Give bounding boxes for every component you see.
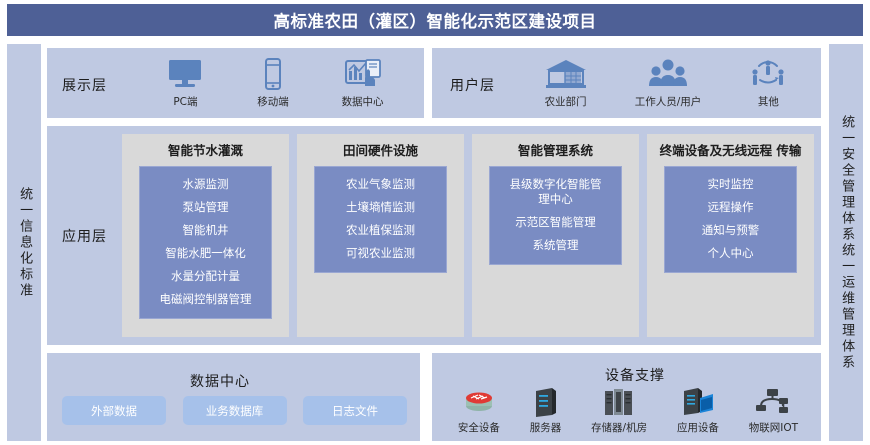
app-panel-smart-irrigation: 智能节水灌溉 水源监测 泵站管理 智能机井 智能水肥一体化 水量分配计量 电磁阀… bbox=[122, 134, 289, 337]
storage-rack-icon bbox=[601, 382, 637, 418]
monitor-icon bbox=[166, 56, 204, 92]
display-item-mobile-caption: 移动端 bbox=[257, 94, 289, 109]
app-item[interactable]: 远程操作 bbox=[706, 196, 756, 219]
app-panel-smart-management: 智能管理系统 县级数字化智能管 理中心 示范区智能管理 系统管理 bbox=[472, 134, 639, 337]
equip-item-application-device[interactable]: 应用设备 bbox=[677, 382, 719, 435]
display-item-mobile[interactable]: 移动端 bbox=[257, 56, 289, 109]
user-layer-label: 用户层 bbox=[450, 75, 495, 95]
app-item[interactable]: 电磁阀控制器管理 bbox=[158, 288, 254, 311]
user-item-agri-dept-caption: 农业部门 bbox=[545, 94, 587, 109]
application-device-icon bbox=[679, 382, 717, 418]
user-item-staff[interactable]: 工作人员/用户 bbox=[635, 56, 702, 109]
page-title: 高标准农田（灌区）智能化示范区建设项目 bbox=[274, 8, 597, 32]
left-rail-info-standard: 统一信息化标准 bbox=[7, 44, 41, 441]
app-panel-title: 智能管理系统 bbox=[514, 143, 597, 160]
equip-item-application-device-caption: 应用设备 bbox=[677, 420, 719, 435]
right-rail-management: 统一安全管理体系 统一运维管理体系 bbox=[829, 44, 863, 441]
left-rail-label: 统一信息化标准 bbox=[17, 187, 31, 299]
equip-item-storage-caption: 存储器/机房 bbox=[591, 420, 647, 435]
display-layer-label: 展示层 bbox=[62, 75, 107, 95]
architecture-diagram: 高标准农田（灌区）智能化示范区建设项目 统一信息化标准 统一安全管理体系 统一运… bbox=[0, 0, 870, 445]
app-panel-items: 农业气象监测 土壤墒情监测 农业植保监测 可视农业监测 bbox=[314, 166, 448, 273]
app-item[interactable]: 可视农业监测 bbox=[344, 242, 417, 265]
app-item[interactable]: 农业植保监测 bbox=[344, 219, 417, 242]
app-item[interactable]: 泵站管理 bbox=[181, 196, 231, 219]
app-item[interactable]: 农业气象监测 bbox=[344, 173, 417, 196]
app-panel-items: 实时监控 远程操作 通知与预警 个人中心 bbox=[664, 166, 798, 273]
app-item[interactable]: 县级数字化智能管 理中心 bbox=[508, 173, 604, 211]
app-panel-items: 水源监测 泵站管理 智能机井 智能水肥一体化 水量分配计量 电磁阀控制器管理 bbox=[139, 166, 273, 319]
right-rail-security-label: 统一安全管理体系 bbox=[839, 115, 853, 243]
app-item[interactable]: 智能机井 bbox=[181, 219, 231, 242]
display-item-datacenter[interactable]: 数据中心 bbox=[342, 56, 384, 109]
equip-item-storage[interactable]: 存储器/机房 bbox=[591, 382, 647, 435]
app-panel-terminal-transmission: 终端设备及无线远程 传输 实时监控 远程操作 通知与预警 个人中心 bbox=[647, 134, 814, 337]
display-item-pc[interactable]: PC端 bbox=[166, 56, 204, 109]
user-item-agri-dept[interactable]: 农业部门 bbox=[544, 56, 588, 109]
user-item-other-caption: 其他 bbox=[758, 94, 779, 109]
data-center-title: 数据中心 bbox=[190, 371, 250, 391]
tablet-chart-icon bbox=[344, 56, 382, 92]
page-title-bar: 高标准农田（灌区）智能化示范区建设项目 bbox=[7, 4, 863, 36]
user-layer-icons: 农业部门 工作人员/用户 bbox=[520, 56, 812, 109]
app-item[interactable]: 实时监控 bbox=[706, 173, 756, 196]
equip-item-iot[interactable]: 物联网IOT bbox=[749, 382, 798, 435]
app-item[interactable]: 土壤墒情监测 bbox=[344, 196, 417, 219]
app-item[interactable]: 智能水肥一体化 bbox=[163, 242, 248, 265]
people-group-icon bbox=[646, 56, 690, 92]
app-panel-field-hardware: 田间硬件设施 农业气象监测 土壤墒情监测 农业植保监测 可视农业监测 bbox=[297, 134, 464, 337]
equip-item-security[interactable]: 安全设备 bbox=[458, 382, 500, 435]
equipment-support-icons: 安全设备 服务器 bbox=[443, 382, 813, 435]
app-item[interactable]: 系统管理 bbox=[531, 234, 581, 257]
right-rail-ops-label: 统一运维管理体系 bbox=[839, 243, 853, 371]
equip-item-server[interactable]: 服务器 bbox=[530, 382, 562, 435]
government-building-icon bbox=[544, 56, 588, 92]
user-item-staff-caption: 工作人员/用户 bbox=[635, 94, 702, 109]
iot-network-icon bbox=[753, 382, 793, 418]
user-item-other[interactable]: 其他 bbox=[748, 56, 788, 109]
app-item[interactable]: 水源监测 bbox=[181, 173, 231, 196]
app-panel-title: 智能节水灌溉 bbox=[164, 143, 247, 160]
app-panel-items: 县级数字化智能管 理中心 示范区智能管理 系统管理 bbox=[489, 166, 623, 265]
server-tower-icon bbox=[530, 382, 560, 418]
app-panel-title: 终端设备及无线远程 传输 bbox=[656, 143, 806, 160]
display-item-datacenter-caption: 数据中心 bbox=[342, 94, 384, 109]
app-item[interactable]: 个人中心 bbox=[706, 242, 756, 265]
display-item-pc-caption: PC端 bbox=[173, 94, 197, 109]
app-item[interactable]: 示范区智能管理 bbox=[513, 211, 598, 234]
equip-item-server-caption: 服务器 bbox=[530, 420, 562, 435]
data-center-pills: 外部数据 业务数据库 日志文件 bbox=[62, 396, 407, 425]
application-layer-label: 应用层 bbox=[62, 226, 107, 246]
mobile-phone-icon bbox=[261, 56, 285, 92]
data-pill-external[interactable]: 外部数据 bbox=[62, 396, 166, 425]
equip-item-iot-caption: 物联网IOT bbox=[749, 420, 798, 435]
application-layer-panels: 智能节水灌溉 水源监测 泵站管理 智能机井 智能水肥一体化 水量分配计量 电磁阀… bbox=[122, 134, 814, 337]
security-router-icon bbox=[460, 382, 498, 418]
display-layer-icons: PC端 移动端 bbox=[140, 56, 410, 109]
app-panel-title: 田间硬件设施 bbox=[339, 143, 422, 160]
app-item[interactable]: 水量分配计量 bbox=[169, 265, 242, 288]
equip-item-security-caption: 安全设备 bbox=[458, 420, 500, 435]
data-pill-business-db[interactable]: 业务数据库 bbox=[183, 396, 287, 425]
data-pill-log-file[interactable]: 日志文件 bbox=[303, 396, 407, 425]
app-item[interactable]: 通知与预警 bbox=[700, 219, 762, 242]
people-cycle-icon bbox=[748, 56, 788, 92]
